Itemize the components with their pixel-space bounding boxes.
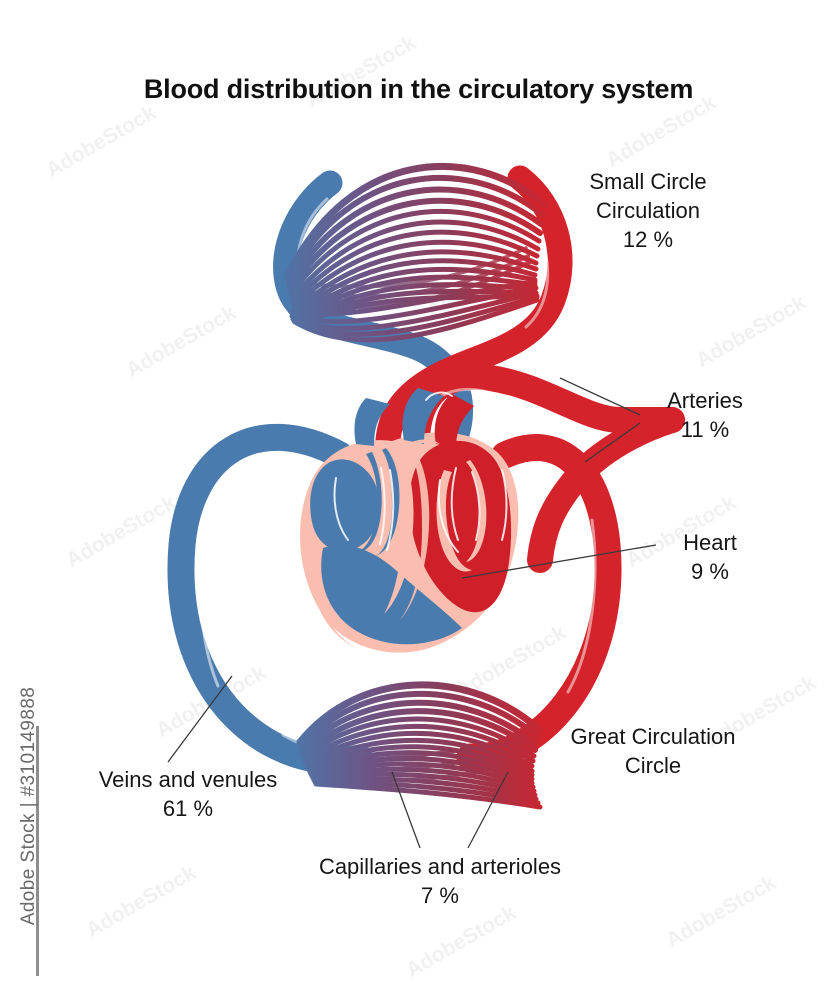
illustration-page: AdobeStock AdobeStock AdobeStock AdobeSt… xyxy=(0,0,837,1000)
label-great-circle-line1: Great Circulation xyxy=(570,724,735,749)
label-veins-percent: 61 % xyxy=(76,794,300,823)
label-small-circle-line2: Circulation xyxy=(596,198,700,223)
label-veins-line1: Veins and venules xyxy=(99,767,278,792)
label-veins-and-venules: Veins and venules 61 % xyxy=(76,765,300,823)
circulatory-system-diagram xyxy=(0,0,837,1000)
watermark-attribution: Adobe Stock | #310149888 xyxy=(18,676,40,936)
label-arteries-percent: 11 % xyxy=(645,415,765,444)
label-capillaries-percent: 7 % xyxy=(295,881,585,910)
label-arteries-line1: Arteries xyxy=(667,388,743,413)
label-arteries: Arteries 11 % xyxy=(645,386,765,444)
label-small-circle-line1: Small Circle xyxy=(589,169,706,194)
label-capillaries-and-arterioles: Capillaries and arterioles 7 % xyxy=(295,852,585,910)
label-heart: Heart 9 % xyxy=(660,528,760,586)
label-heart-line1: Heart xyxy=(683,530,737,555)
systemic-capillary-bed xyxy=(300,685,540,807)
right-atrium xyxy=(310,459,379,550)
label-capillaries-line1: Capillaries and arterioles xyxy=(319,854,561,879)
label-small-circle-circulation: Small Circle Circulation 12 % xyxy=(560,167,736,254)
heart-illustration xyxy=(300,388,518,653)
label-great-circulation-circle: Great Circulation Circle xyxy=(548,722,758,780)
label-small-circle-percent: 12 % xyxy=(560,225,736,254)
label-heart-percent: 9 % xyxy=(660,557,760,586)
label-great-circle-line2: Circle xyxy=(625,753,681,778)
